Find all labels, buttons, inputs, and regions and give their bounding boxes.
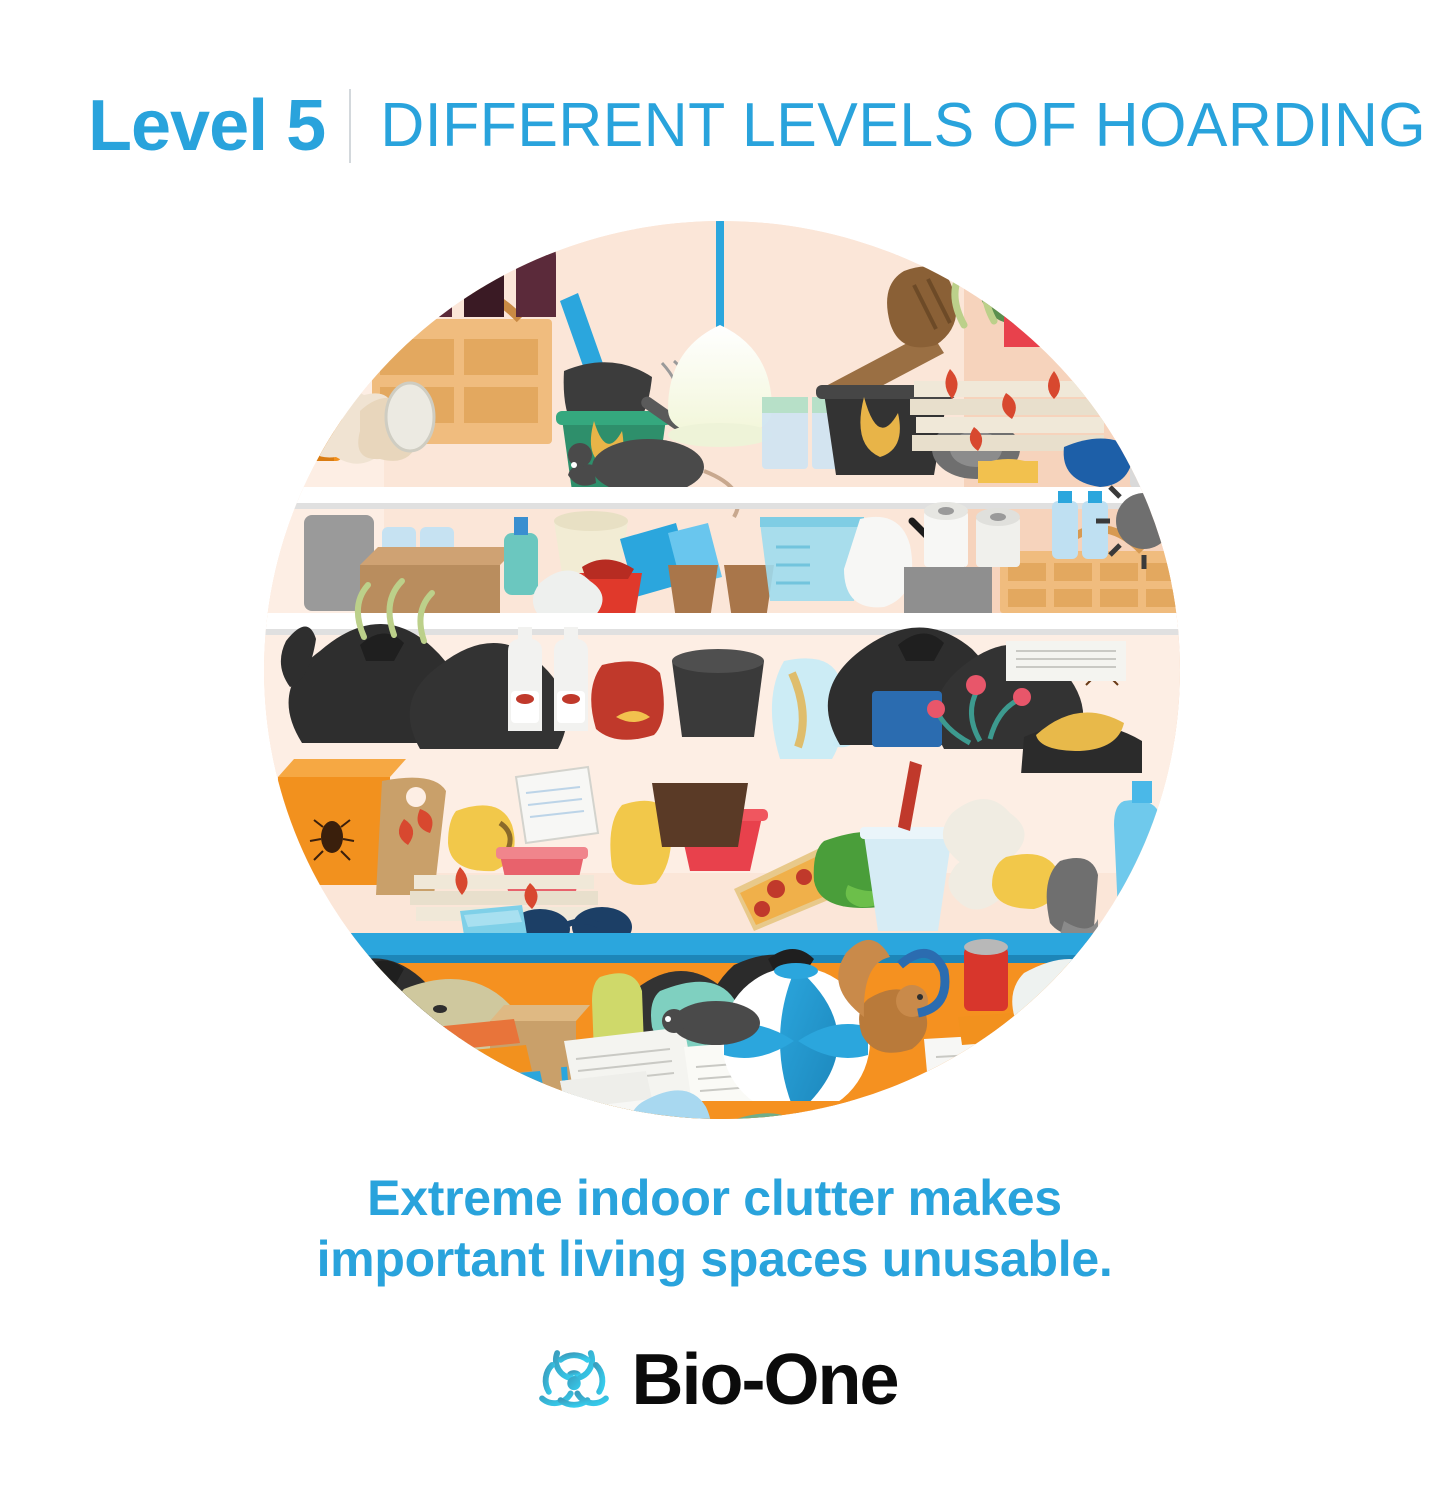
- illustration-circle-mask: [264, 221, 1180, 1119]
- brand-name: Bio-One: [632, 1344, 898, 1416]
- chips-bag: [591, 661, 664, 739]
- caption: Extreme indoor clutter makes important l…: [0, 1168, 1429, 1290]
- dirty-plate-stack: [910, 369, 1106, 451]
- level-title: Level 5: [88, 90, 349, 162]
- blue-jug: [448, 1067, 518, 1119]
- infographic-page: Level 5 DIFFERENT LEVELS OF HOARDING: [0, 0, 1429, 1508]
- header-subtitle: DIFFERENT LEVELS OF HOARDING: [351, 95, 1426, 157]
- biohazard-icon: [532, 1338, 616, 1422]
- cluttered-kitchen-scene: [264, 221, 1180, 1119]
- caption-line-1: Extreme indoor clutter makes: [0, 1168, 1429, 1229]
- hoarding-illustration: [264, 221, 1180, 1119]
- lotion-bottle: [1118, 359, 1160, 457]
- caption-line-2: important living spaces unusable.: [0, 1229, 1429, 1290]
- floor-pile-group: [264, 939, 1180, 1119]
- paper-stack: [1006, 641, 1126, 681]
- soda-can: [964, 939, 1008, 1011]
- header: Level 5 DIFFERENT LEVELS OF HOARDING: [88, 78, 1348, 174]
- orange-tube: [1166, 373, 1180, 461]
- brand-logo: Bio-One: [0, 1338, 1429, 1422]
